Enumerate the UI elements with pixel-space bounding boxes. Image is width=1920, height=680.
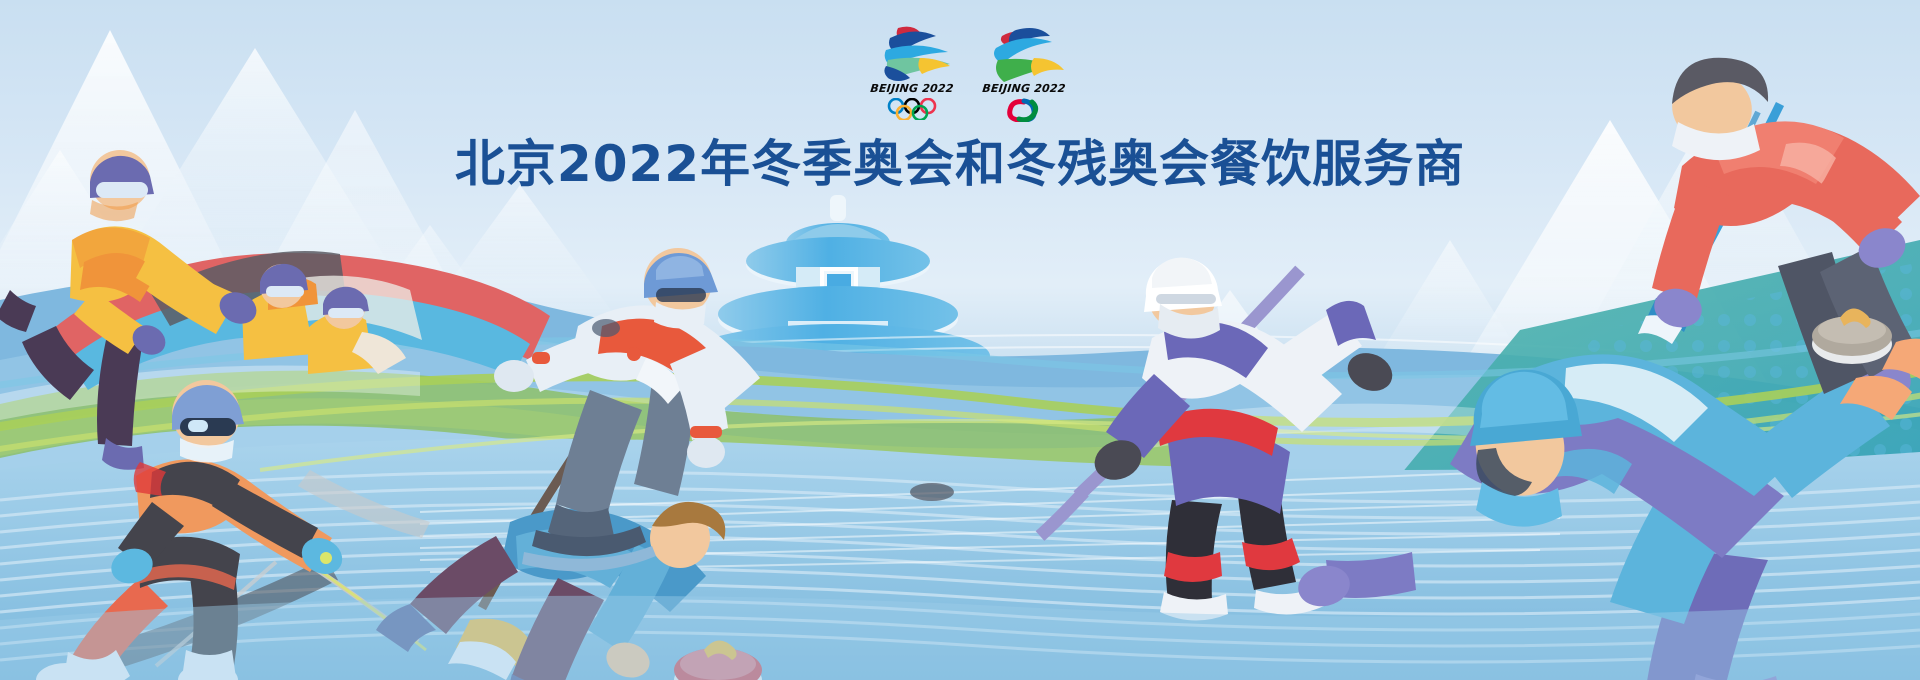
olympic-rings-icon — [860, 98, 964, 120]
olympic-emblem-wordmark: BEIJING 2022 — [859, 82, 964, 95]
paralympic-emblem-symbol — [994, 28, 1064, 82]
paralympic-agitos-icon — [972, 98, 1076, 122]
olympic-banner: BEIJING 2022 — [0, 0, 1920, 680]
paralympic-emblem-wordmark: BEIJING 2022 — [971, 82, 1076, 95]
emblem-row: BEIJING 2022 — [860, 22, 1080, 122]
beijing-2022-paralympic-emblem: BEIJING 2022 — [972, 22, 1076, 122]
olympic-emblem-symbol — [884, 27, 950, 81]
beijing-2022-olympic-emblem: BEIJING 2022 — [860, 22, 964, 122]
page-title: 北京2022年冬季奥会和冬残奥会餐饮服务商 — [0, 124, 1920, 196]
